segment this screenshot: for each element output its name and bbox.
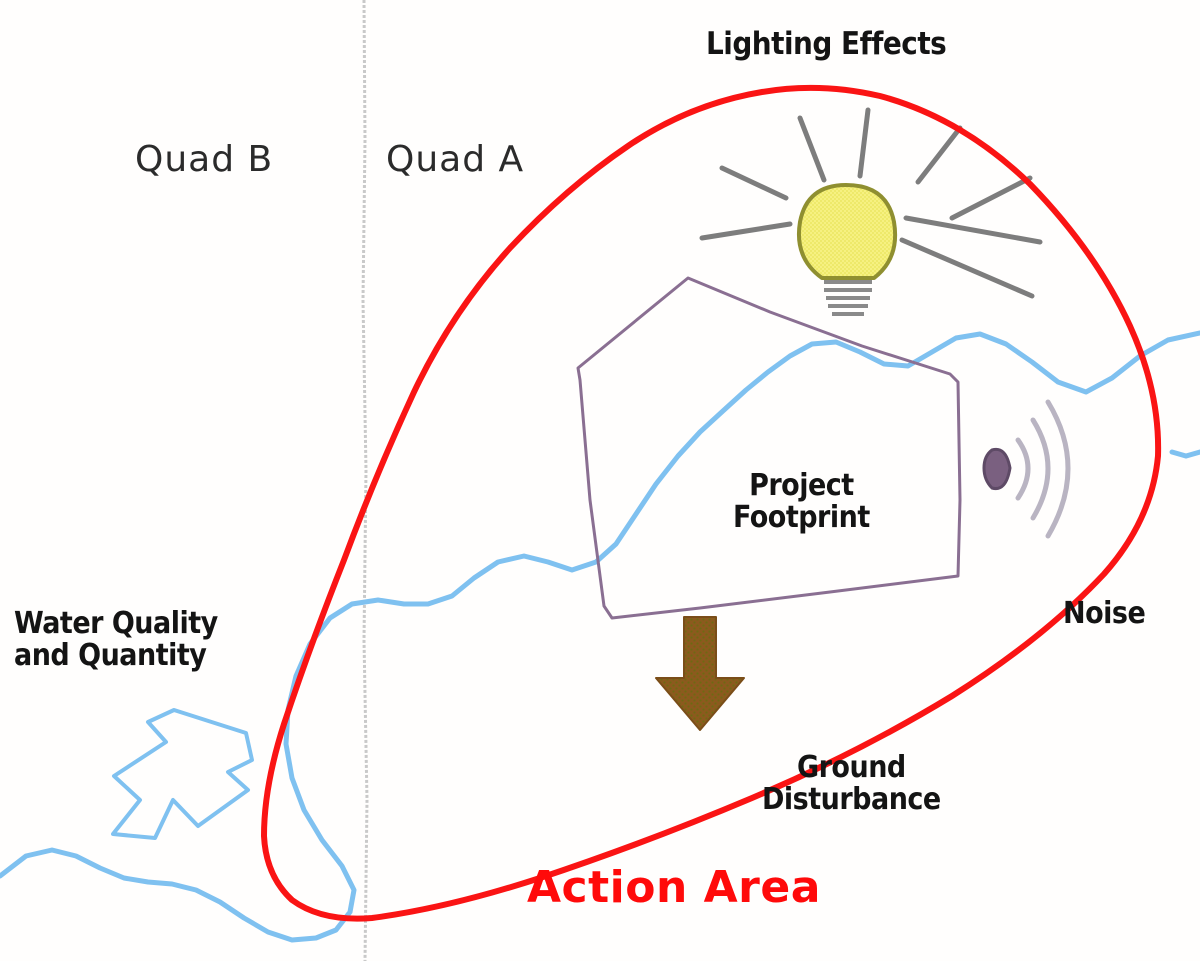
- label-noise: Noise: [1063, 598, 1145, 630]
- brown-down-arrow-icon: [656, 617, 744, 730]
- label-project-footprint: Project Footprint: [733, 470, 870, 534]
- label-quad-b: Quad B: [135, 139, 273, 180]
- label-lighting-effects: Lighting Effects: [706, 28, 946, 61]
- project-footprint-polygon: [578, 278, 960, 618]
- quad-divider-line: [363, 0, 367, 961]
- label-water-quality: Water Quality and Quantity: [14, 608, 218, 672]
- lightbulb-icon: [702, 110, 1040, 314]
- speaker-cone-icon: [984, 449, 1010, 488]
- lightbulb-glass: [799, 185, 895, 278]
- label-quad-a: Quad A: [386, 139, 524, 180]
- sound-wave-arcs: [1018, 402, 1068, 536]
- blue-flow-arrow-icon: [113, 710, 252, 838]
- lightbulb-base: [824, 282, 872, 314]
- label-ground-disturbance: Ground Disturbance: [762, 752, 941, 816]
- action-area-boundary: [264, 88, 1158, 919]
- label-action-area: Action Area: [527, 862, 821, 913]
- action-area-diagram: Lighting Effects Project Footprint Noise…: [0, 0, 1200, 961]
- speaker-waves-icon: [984, 402, 1068, 536]
